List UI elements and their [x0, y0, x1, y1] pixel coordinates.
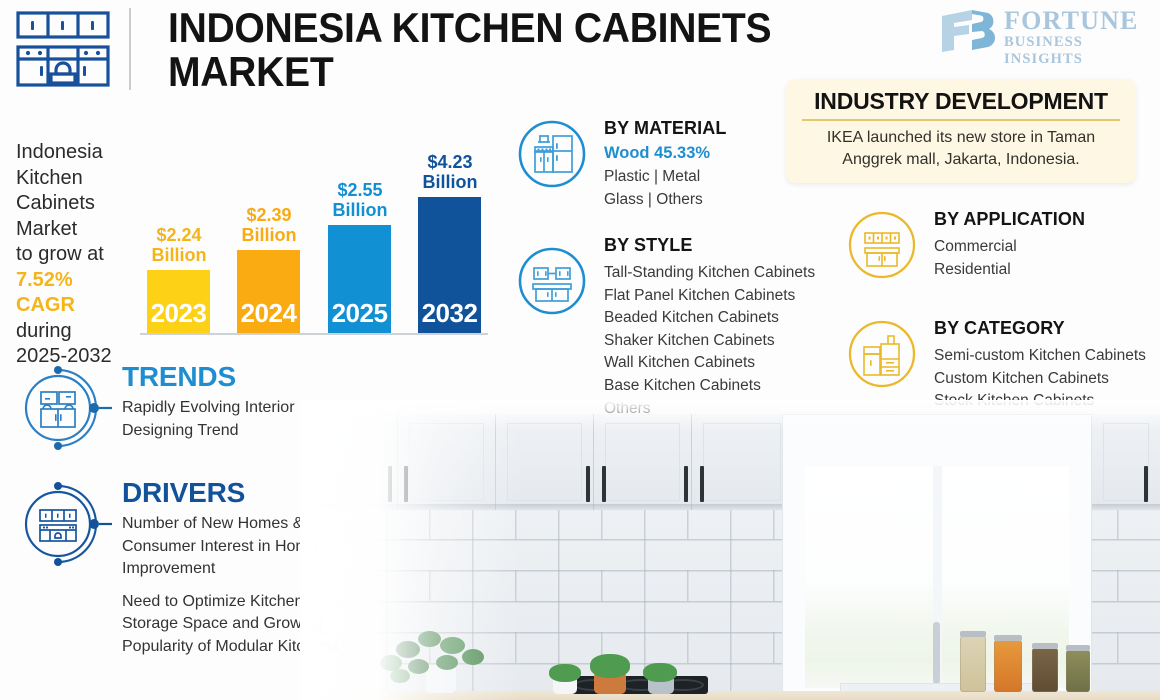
cabinet-style-icon — [516, 245, 588, 322]
kitchen-appliances-icon — [516, 118, 588, 195]
drivers-item-0: Number of New Homes & Consumer Interest … — [122, 513, 346, 581]
bar-year-2: 2025 — [328, 298, 391, 329]
market-size-bar-chart: $2.24Billion 2023 $2.39Billion 2024 $2.5… — [140, 140, 490, 335]
kitchen-cabinet-icon — [16, 10, 112, 88]
section-trends: TRENDS Rapidly Evolving Interior Designi… — [16, 362, 336, 442]
blurb-line-1: Indonesia Kitchen — [16, 141, 103, 189]
category-line-1: Custom Kitchen Cabinets — [934, 368, 1156, 391]
section-heading: BY APPLICATION — [934, 209, 1146, 230]
industry-development-box: INDUSTRY DEVELOPMENT IKEA launched its n… — [786, 79, 1136, 183]
bar-value-label-3: $4.23Billion — [412, 152, 488, 192]
section-heading: BY STYLE — [604, 235, 846, 256]
section-heading: BY CATEGORY — [934, 318, 1156, 339]
application-line-0: Commercial — [934, 236, 1146, 259]
section-by-application: BY APPLICATION Commercial Residential — [846, 209, 1146, 281]
brand-subtitle: BUSINESS INSIGHTS — [1004, 34, 1146, 68]
bar-value-label-1: $2.39Billion — [231, 205, 307, 245]
plant-grey — [640, 658, 682, 694]
blurb-line-4: during — [16, 320, 72, 342]
section-by-category: BY CATEGORY Semi-custom Kitchen Cabinets… — [846, 318, 1156, 413]
header-divider — [129, 8, 131, 90]
jar-grains — [960, 636, 986, 692]
infographic-root: INDONESIA KITCHEN CABINETS MARKET FORTUN… — [0, 0, 1160, 700]
style-line-0: Tall-Standing Kitchen Cabinets — [604, 262, 846, 285]
section-by-style: BY STYLE Tall-Standing Kitchen Cabinets … — [516, 235, 846, 420]
bar-value-label-2: $2.55Billion — [322, 180, 398, 220]
bar-year-3: 2032 — [418, 298, 481, 329]
fortune-business-insights-logo: FORTUNE BUSINESS INSIGHTS — [938, 6, 1146, 60]
cabinet-unit-icon — [846, 209, 918, 286]
bar-column-2: 2025 — [328, 225, 391, 333]
chart-blurb: Indonesia Kitchen Cabinets Market to gro… — [16, 140, 156, 370]
plant-large — [378, 625, 498, 693]
blurb-line-2: Cabinets Market — [16, 192, 95, 240]
divider — [802, 119, 1120, 121]
style-line-1: Flat Panel Kitchen Cabinets — [604, 285, 846, 308]
plant-small-white — [545, 658, 585, 694]
style-line-5: Base Kitchen Cabinets — [604, 375, 846, 398]
category-line-2: Stock Kitchen Cabinets — [934, 390, 1156, 413]
material-line-1: Glass | Others — [604, 189, 786, 212]
style-line-4: Wall Kitchen Cabinets — [604, 352, 846, 375]
drivers-item-1: Need to Optimize Kitchen Storage Space a… — [122, 591, 346, 659]
style-line-3: Shaker Kitchen Cabinets — [604, 330, 846, 353]
industry-development-text: IKEA launched its new store in Taman Ang… — [800, 127, 1122, 171]
kitchen-counter-icon — [846, 318, 918, 395]
style-line-2: Beaded Kitchen Cabinets — [604, 307, 846, 330]
material-line-0: Plastic | Metal — [604, 166, 786, 189]
jar-olive — [1066, 650, 1090, 692]
trends-title: TRENDS — [122, 362, 336, 392]
bar-column-0: 2023 — [147, 270, 210, 333]
drivers-cabinet-icon — [16, 478, 112, 575]
page-title: INDONESIA KITCHEN CABINETS MARKET — [168, 6, 819, 94]
bar-year-0: 2023 — [147, 298, 210, 329]
chart-baseline — [140, 333, 488, 335]
kitchen-photo — [300, 400, 1160, 700]
drivers-title: DRIVERS — [122, 478, 346, 508]
jar-dark — [1032, 648, 1058, 692]
industry-development-heading: INDUSTRY DEVELOPMENT — [800, 88, 1122, 119]
section-drivers: DRIVERS Number of New Homes & Consumer I… — [16, 478, 346, 658]
application-line-1: Residential — [934, 259, 1146, 282]
bar-column-1: 2024 — [237, 250, 300, 333]
bar-value-label-0: $2.24Billion — [141, 225, 217, 265]
trends-cabinet-icon — [16, 362, 112, 459]
cagr-label: CAGR — [16, 294, 75, 316]
bar-column-3: 2032 — [418, 197, 481, 333]
jar-pasta — [994, 640, 1022, 692]
plant-terracotta — [588, 652, 634, 694]
material-highlight: Wood 45.33% — [604, 144, 786, 163]
bar-year-1: 2024 — [237, 298, 300, 329]
cagr-value: 7.52% — [16, 269, 73, 291]
blurb-line-3: to grow at — [16, 243, 104, 265]
category-line-0: Semi-custom Kitchen Cabinets — [934, 345, 1156, 368]
section-by-material: BY MATERIAL Wood 45.33% Plastic | Metal … — [516, 118, 786, 211]
section-heading: BY MATERIAL — [604, 118, 786, 139]
brand-name: FORTUNE — [1004, 8, 1139, 34]
style-line-6: Others — [604, 398, 846, 421]
fb-monogram-icon — [938, 6, 1000, 54]
trends-item-0: Rapidly Evolving Interior Designing Tren… — [122, 397, 336, 442]
